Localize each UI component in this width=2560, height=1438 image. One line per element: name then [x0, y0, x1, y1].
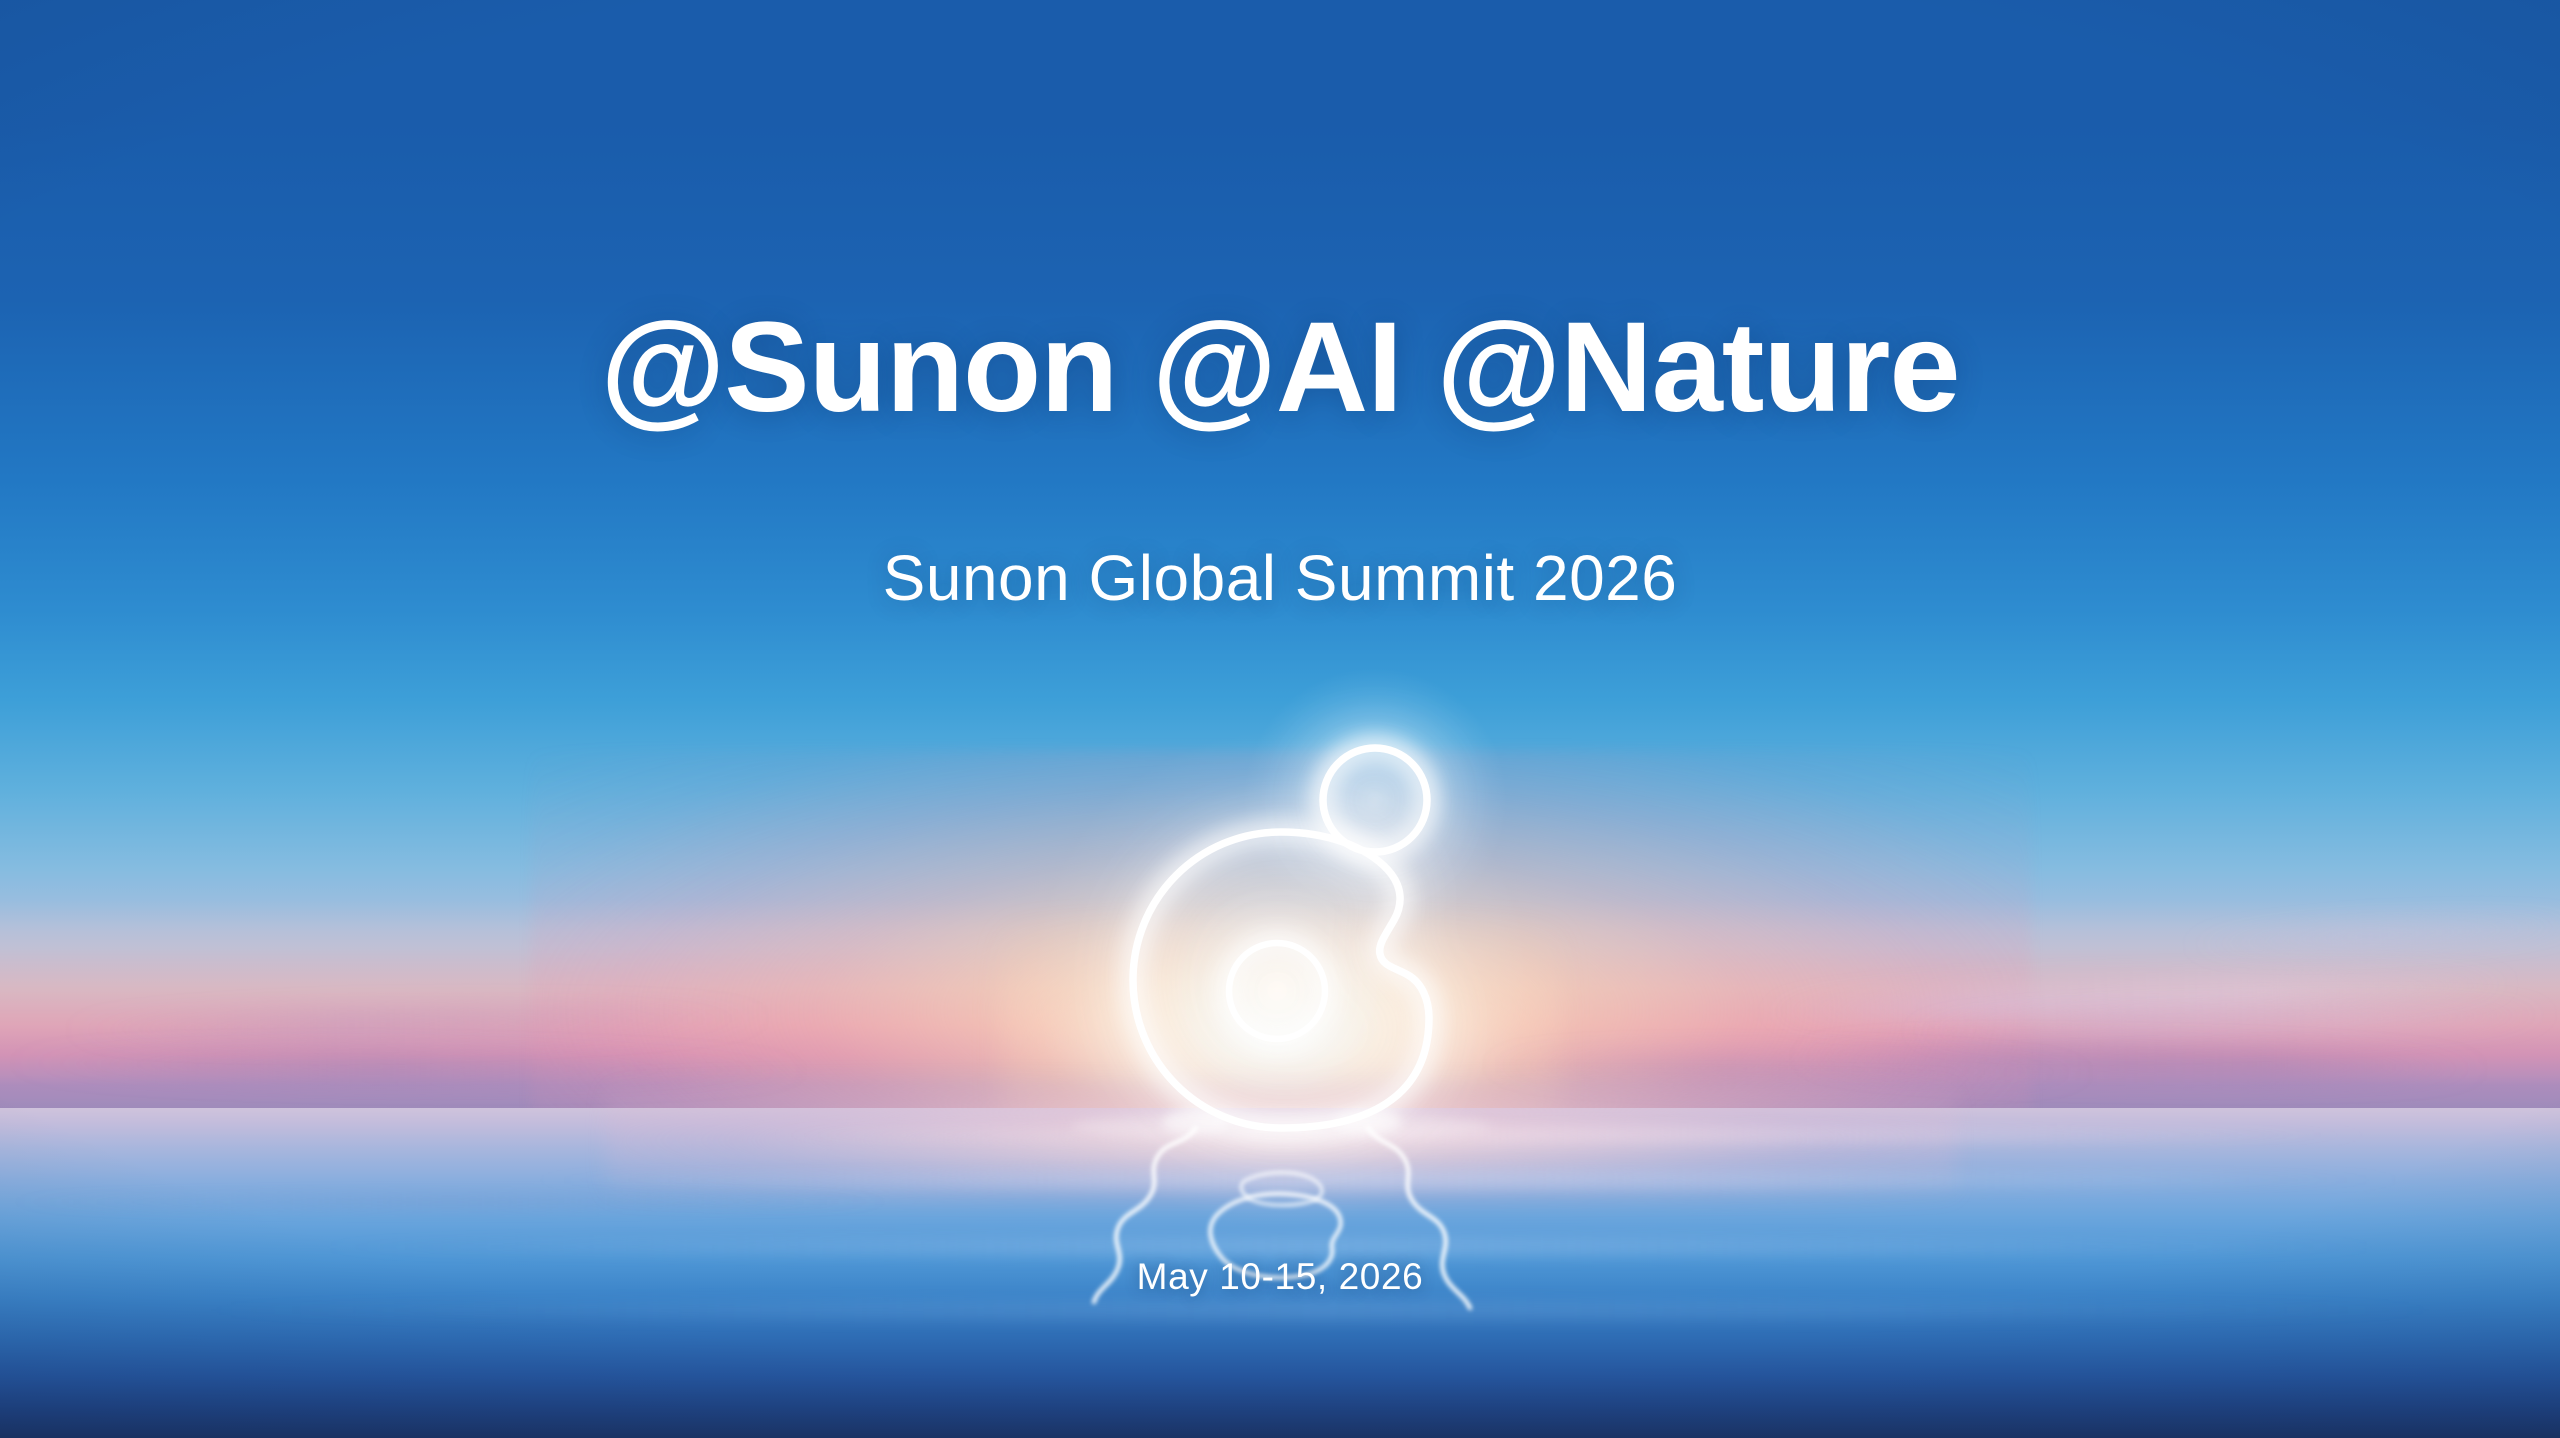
page-subtitle: Sunon Global Summit 2026	[0, 540, 2560, 617]
slide-canvas: @Sunon @AI @Nature Sunon Global Summit 2…	[0, 0, 2560, 1438]
water-streak	[760, 1128, 2380, 1142]
water-streak	[520, 1172, 2420, 1188]
water-streak	[180, 1300, 2460, 1320]
page-title: @Sunon @AI @Nature	[0, 296, 2560, 439]
water-streak	[0, 1196, 900, 1208]
water-streak	[300, 1238, 2400, 1256]
event-date: May 10-15, 2026	[0, 1256, 2560, 1298]
